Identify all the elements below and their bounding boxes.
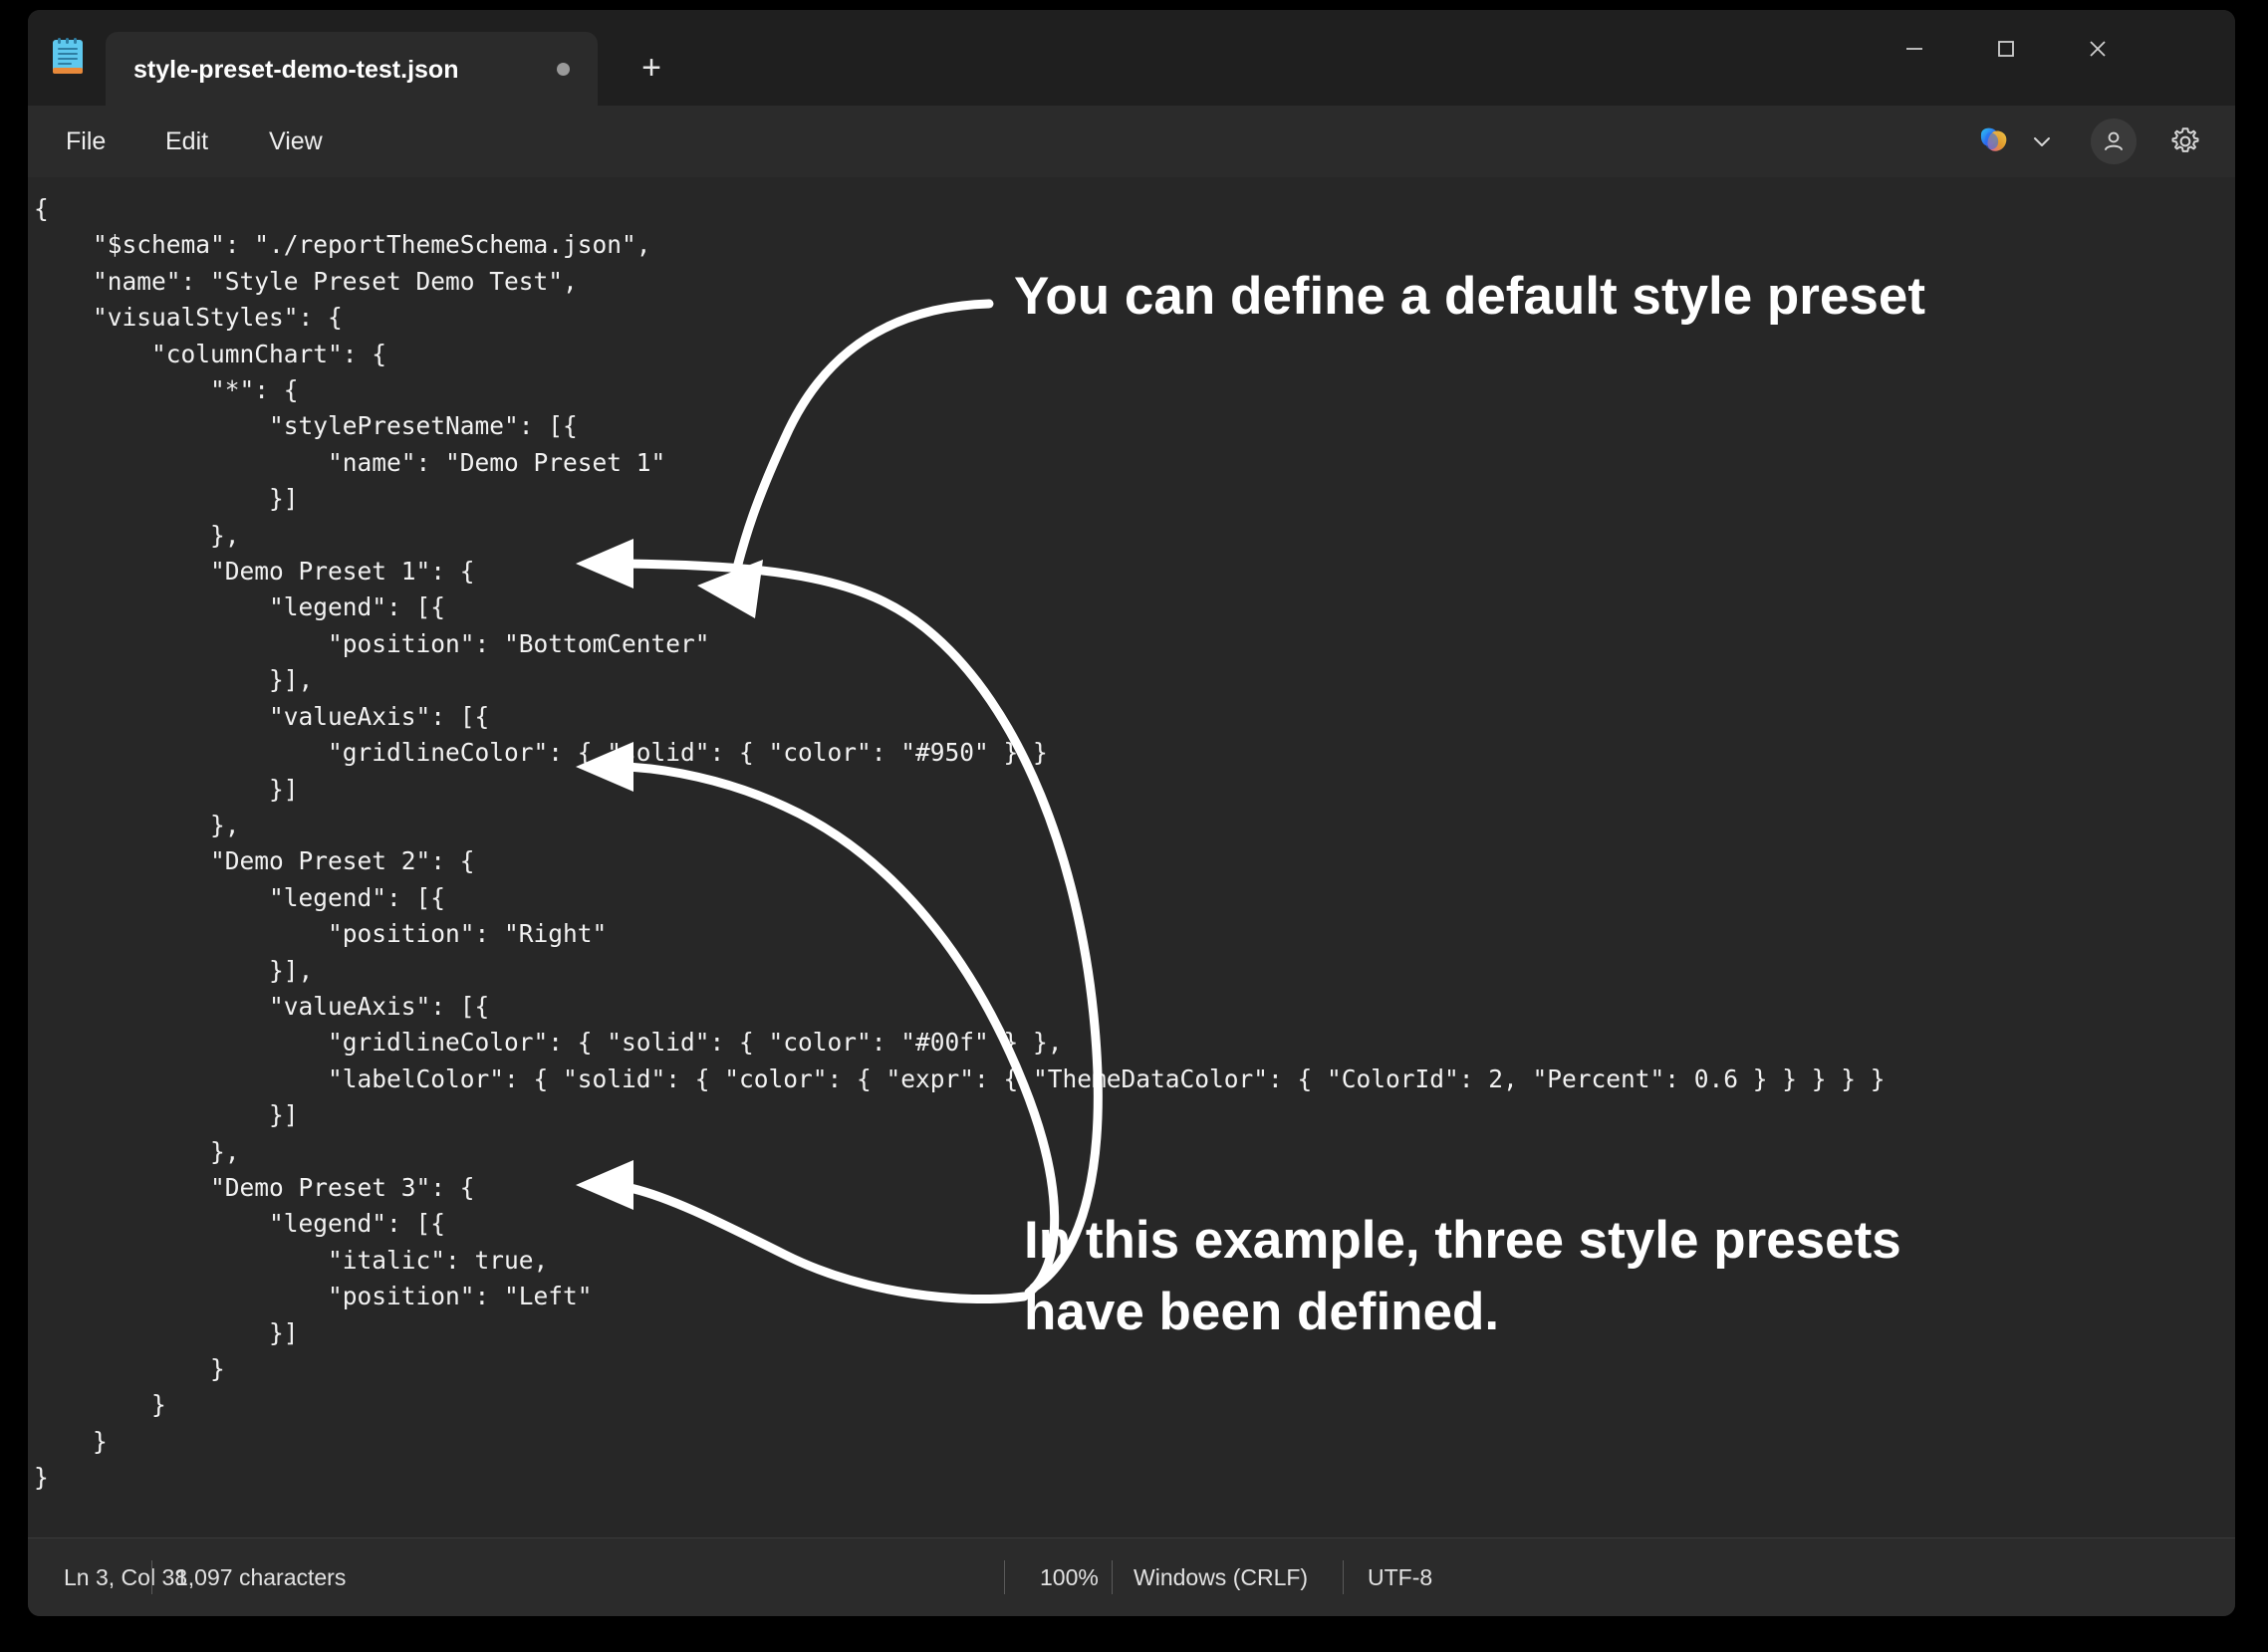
chevron-down-icon[interactable] (2018, 118, 2066, 165)
status-divider (151, 1560, 152, 1594)
status-divider (1004, 1560, 1005, 1594)
status-divider (1112, 1560, 1113, 1594)
encoding-status[interactable]: UTF-8 (1368, 1538, 1432, 1616)
zoom-level-status[interactable]: 100% (1040, 1538, 1099, 1616)
menu-bar: File Edit View (28, 106, 2235, 177)
account-icon[interactable] (2090, 118, 2138, 165)
minimize-button[interactable] (1869, 10, 1960, 88)
tab-style-preset-demo-test[interactable]: style-preset-demo-test.json (106, 32, 598, 106)
status-divider (1343, 1560, 1344, 1594)
new-tab-button[interactable]: + (628, 44, 675, 92)
close-button[interactable] (2052, 10, 2143, 88)
status-bar: Ln 3, Col 38 1,097 characters 100% Windo… (28, 1537, 2235, 1616)
menu-item-edit[interactable]: Edit (151, 119, 222, 163)
maximize-button[interactable] (1960, 10, 2052, 88)
tab-label: style-preset-demo-test.json (133, 56, 458, 85)
callout-text-default-preset: You can define a default style preset (1014, 267, 1925, 327)
title-bar: style-preset-demo-test.json + (28, 10, 2235, 106)
settings-gear-icon[interactable] (2161, 118, 2209, 165)
menu-item-view[interactable]: View (255, 119, 337, 163)
unsaved-changes-dot-icon (557, 63, 570, 76)
line-ending-status[interactable]: Windows (CRLF) (1134, 1538, 1308, 1616)
callout-text-three-presets: In this example, three style presets hav… (1024, 1205, 1901, 1348)
copilot-icon[interactable] (1970, 118, 2018, 165)
notepad-window: style-preset-demo-test.json + File Edit … (28, 10, 2235, 1616)
menu-item-file[interactable]: File (52, 119, 120, 163)
character-count-status: 1,097 characters (175, 1538, 346, 1616)
notepad-icon (46, 36, 90, 80)
cursor-position-status: Ln 3, Col 38 (64, 1538, 187, 1616)
